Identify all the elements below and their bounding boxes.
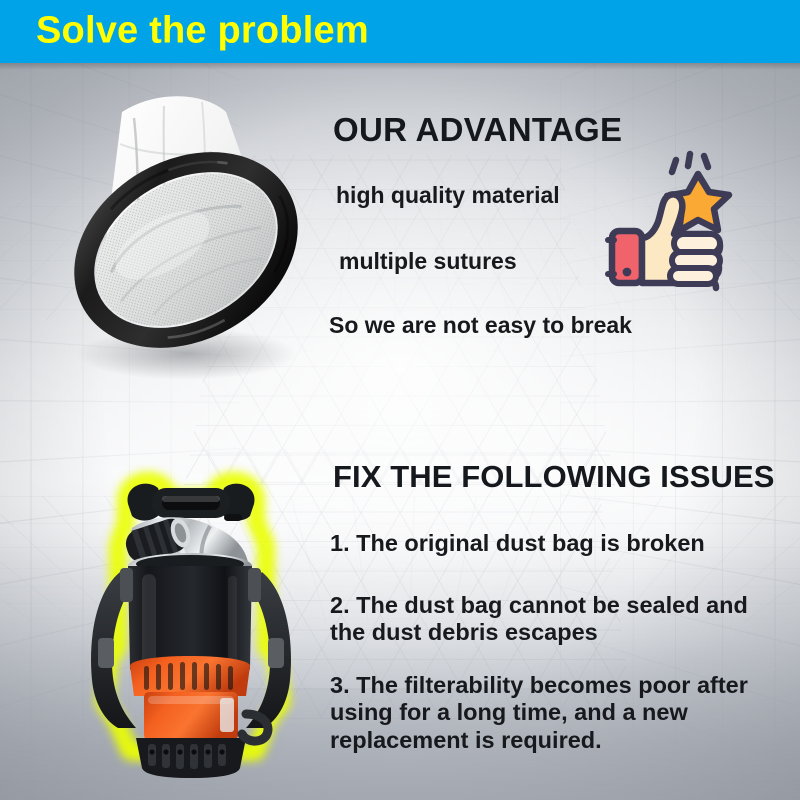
- sparkle-dashes: [672, 154, 708, 172]
- thumbs-up-with-star-icon: [604, 148, 734, 296]
- issue-item-1: 2. The dust bag cannot be sealed and the…: [330, 592, 780, 647]
- advantage-item-1: multiple sutures: [339, 248, 517, 275]
- issues-section-title: FIX THE FOLLOWING ISSUES: [333, 459, 775, 495]
- advantage-section-title: OUR ADVANTAGE: [333, 111, 622, 149]
- header-bar: Solve the problem: [0, 0, 800, 63]
- issue-item-2: 3. The filterability becomes poor after …: [330, 672, 785, 754]
- page-title: Solve the problem: [36, 9, 369, 52]
- content-layer: OUR ADVANTAGE high quality material mult…: [0, 0, 800, 800]
- advantage-item-2: So we are not easy to break: [329, 312, 632, 339]
- header-shadow: [0, 63, 800, 70]
- advantage-item-0: high quality material: [336, 182, 560, 209]
- issue-item-0: 1. The original dust bag is broken: [330, 530, 790, 557]
- product-infographic-page: Solve the problem: [0, 0, 800, 800]
